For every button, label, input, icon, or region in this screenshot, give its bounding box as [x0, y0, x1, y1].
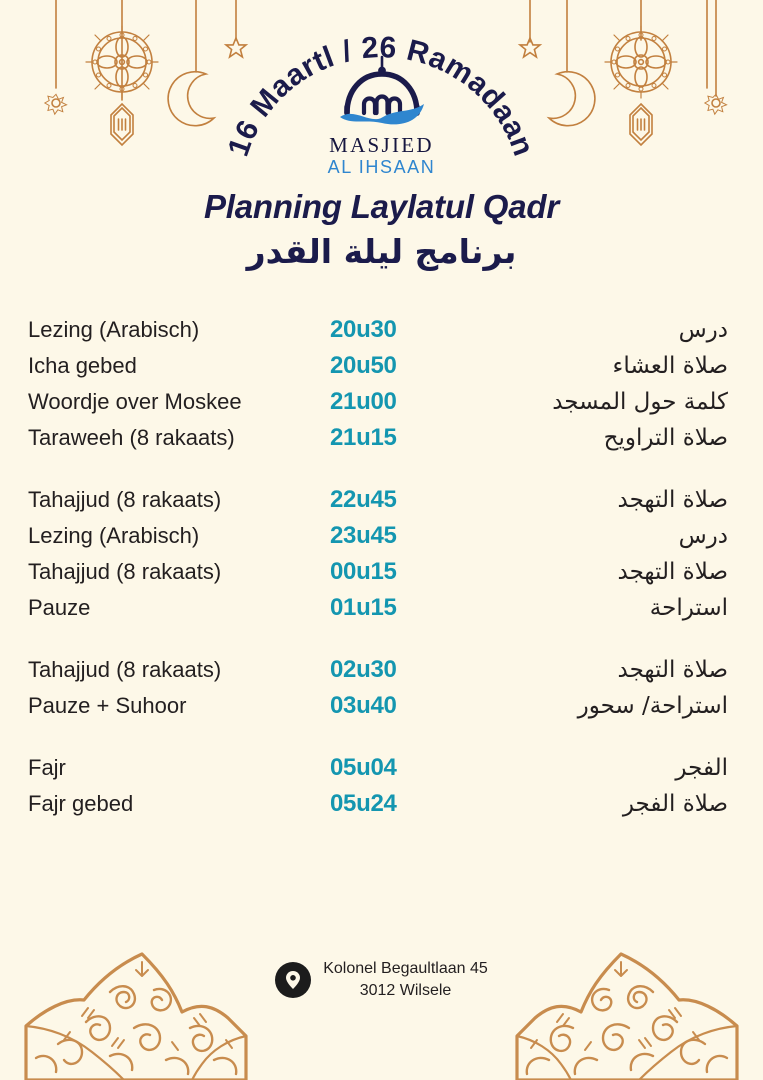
activity-label-ar: صلاة التراويح	[520, 425, 763, 451]
activity-label-nl: Icha gebed	[0, 353, 330, 379]
activity-label-ar: كلمة حول المسجد	[520, 389, 763, 415]
schedule-row: Pauze + Suhoor03u40استراحة/ سحور	[0, 692, 763, 728]
activity-time: 03u40	[330, 692, 520, 720]
activity-time: 00u15	[330, 558, 520, 586]
footer-address: Kolonel Begaultlaan 45 3012 Wilsele	[0, 958, 763, 1001]
schedule-row: Lezing (Arabisch)23u45درس	[0, 522, 763, 558]
activity-time: 20u50	[330, 352, 520, 380]
activity-label-nl: Tahajjud (8 rakaats)	[0, 657, 330, 683]
schedule-row: Fajr gebed05u24صلاة الفجر	[0, 790, 763, 826]
address-text: Kolonel Begaultlaan 45 3012 Wilsele	[323, 958, 488, 1001]
logo-subname: AL IHSAAN	[0, 157, 763, 178]
schedule-row: Woordje over Moskee21u00كلمة حول المسجد	[0, 388, 763, 424]
activity-label-nl: Taraweeh (8 rakaats)	[0, 425, 330, 451]
wave-shape	[340, 104, 424, 124]
activity-time: 23u45	[330, 522, 520, 550]
schedule-group: Tahajjud (8 rakaats)22u45صلاة التهجدLezi…	[0, 486, 763, 630]
activity-label-ar: صلاة الفجر	[520, 791, 763, 817]
schedule-row: Tahajjud (8 rakaats)02u30صلاة التهجد	[0, 656, 763, 692]
activity-label-ar: استراحة/ سحور	[520, 693, 763, 719]
schedule-row: Lezing (Arabisch)20u30درس	[0, 316, 763, 352]
title-block: Planning Laylatul Qadr برنامج ليلة القدر	[0, 188, 763, 274]
activity-label-nl: Pauze + Suhoor	[0, 693, 330, 719]
logo-name: MASJIED	[0, 134, 763, 156]
activity-label-nl: Fajr	[0, 755, 330, 781]
address-line-2: 3012 Wilsele	[360, 982, 452, 999]
activity-label-ar: استراحة	[520, 595, 763, 621]
schedule-group: Tahajjud (8 rakaats)02u30صلاة التهجدPauz…	[0, 656, 763, 728]
schedule-table: Lezing (Arabisch)20u30درسIcha gebed20u50…	[0, 316, 763, 852]
activity-label-ar: صلاة التهجد	[520, 487, 763, 513]
activity-time: 20u30	[330, 316, 520, 344]
schedule-row: Tahajjud (8 rakaats)22u45صلاة التهجد	[0, 486, 763, 522]
poster: 16 Maartl / 26 Ramadaan MASJ	[0, 0, 763, 1080]
page-title-arabic: برنامج ليلة القدر	[0, 230, 763, 275]
schedule-row: Taraweeh (8 rakaats)21u15صلاة التراويح	[0, 424, 763, 460]
activity-label-nl: Tahajjud (8 rakaats)	[0, 559, 330, 585]
activity-label-nl: Fajr gebed	[0, 791, 330, 817]
activity-time: 21u15	[330, 424, 520, 452]
mosque-dome-icon	[323, 55, 441, 133]
page-title: Planning Laylatul Qadr	[0, 188, 763, 226]
activity-label-ar: درس	[520, 317, 763, 343]
location-pin-icon	[275, 962, 311, 998]
activity-label-nl: Woordje over Moskee	[0, 389, 330, 415]
schedule-row: Pauze01u15استراحة	[0, 594, 763, 630]
activity-time: 02u30	[330, 656, 520, 684]
activity-label-nl: Lezing (Arabisch)	[0, 523, 330, 549]
activity-time: 05u04	[330, 754, 520, 782]
activity-time: 01u15	[330, 594, 520, 622]
activity-label-ar: درس	[520, 523, 763, 549]
schedule-row: Fajr05u04الفجر	[0, 754, 763, 790]
activity-label-nl: Pauze	[0, 595, 330, 621]
activity-time: 05u24	[330, 790, 520, 818]
activity-label-ar: صلاة التهجد	[520, 559, 763, 585]
activity-time: 22u45	[330, 486, 520, 514]
activity-time: 21u00	[330, 388, 520, 416]
schedule-row: Tahajjud (8 rakaats)00u15صلاة التهجد	[0, 558, 763, 594]
address-line-1: Kolonel Begaultlaan 45	[323, 960, 488, 977]
schedule-group: Lezing (Arabisch)20u30درسIcha gebed20u50…	[0, 316, 763, 460]
schedule-group: Fajr05u04الفجرFajr gebed05u24صلاة الفجر	[0, 754, 763, 826]
activity-label-nl: Lezing (Arabisch)	[0, 317, 330, 343]
schedule-row: Icha gebed20u50صلاة العشاء	[0, 352, 763, 388]
activity-label-nl: Tahajjud (8 rakaats)	[0, 487, 330, 513]
activity-label-ar: صلاة العشاء	[520, 353, 763, 379]
activity-label-ar: صلاة التهجد	[520, 657, 763, 683]
mosque-logo: MASJIED AL IHSAAN	[0, 55, 763, 178]
activity-label-ar: الفجر	[520, 755, 763, 781]
